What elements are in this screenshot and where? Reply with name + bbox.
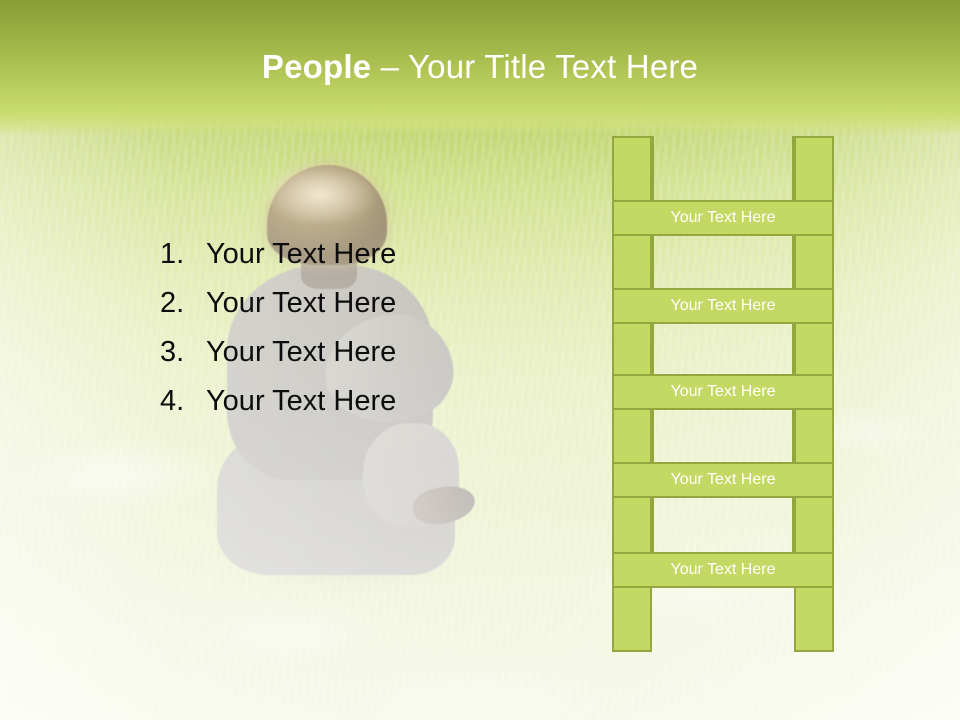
ladder-diagram: Your Text Here Your Text Here Your Text … [612,136,834,654]
ladder-gap [652,496,794,554]
ladder-rung[interactable]: Your Text Here [612,288,834,324]
list-item-label: Your Text Here [206,230,540,279]
ladder-rung-label: Your Text Here [671,297,776,315]
ladder-gap [652,234,794,290]
ladder-rail-right-segment [794,322,834,376]
ladder-gap [652,322,794,376]
ladder-foot-right [794,586,834,652]
list-item-label: Your Text Here [206,328,540,377]
slide: People – Your Title Text Here 1. Your Te… [0,0,960,720]
ladder-rail-right-segment [794,234,834,290]
ladder-rung-label: Your Text Here [671,209,776,227]
page-title-rest: – Your Title Text Here [371,48,698,85]
ladder-rail-right-segment [794,496,834,554]
list-item-number: 3. [160,328,206,377]
list-item[interactable]: 3. Your Text Here [160,328,540,377]
ladder-rail-left-segment [612,234,652,290]
ladder-rung-label: Your Text Here [671,471,776,489]
list-item-label: Your Text Here [206,377,540,426]
ladder-rung-label: Your Text Here [671,383,776,401]
list-item-number: 1. [160,230,206,279]
ladder-rung[interactable]: Your Text Here [612,374,834,410]
ladder-rail-left-segment [612,136,652,202]
list-item-label: Your Text Here [206,279,540,328]
ladder-rail-right-segment [794,408,834,464]
list-item[interactable]: 1. Your Text Here [160,230,540,279]
ladder-foot-left [612,586,652,652]
page-title-strong: People [262,48,371,85]
page-title: People – Your Title Text Here [0,46,960,88]
ladder-rail-right-segment [794,136,834,202]
ladder-gap [652,136,794,202]
ladder-rung[interactable]: Your Text Here [612,200,834,236]
list-item-number: 2. [160,279,206,328]
ladder-rung[interactable]: Your Text Here [612,552,834,588]
ladder-rail-left-segment [612,496,652,554]
ladder-gap [652,408,794,464]
ladder-rung-label: Your Text Here [671,561,776,579]
list-item-number: 4. [160,377,206,426]
list-item[interactable]: 2. Your Text Here [160,279,540,328]
list-item[interactable]: 4. Your Text Here [160,377,540,426]
ladder-rail-left-segment [612,322,652,376]
ladder-rung[interactable]: Your Text Here [612,462,834,498]
ladder-rail-left-segment [612,408,652,464]
numbered-list: 1. Your Text Here 2. Your Text Here 3. Y… [160,230,540,426]
